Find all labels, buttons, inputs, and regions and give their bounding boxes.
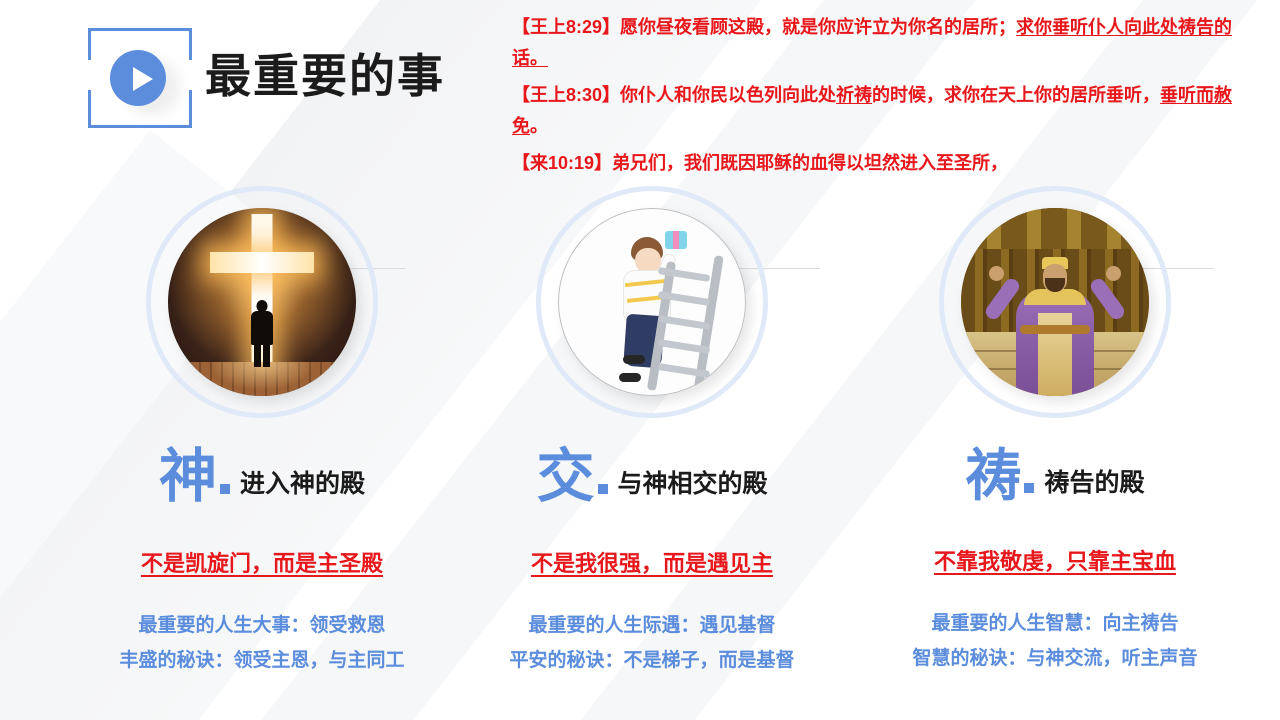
play-button-frame-icon bbox=[88, 28, 192, 128]
person-silhouette bbox=[251, 300, 273, 366]
square-dot-icon bbox=[220, 484, 230, 494]
blue-note-line: 最重要的人生大事：领受救恩 bbox=[62, 608, 462, 643]
verse-1kings-8-29: 【王上8:29】愿你昼夜看顾这殿，就是你应许立为你名的居所；求你垂听仆人向此处祷… bbox=[512, 12, 1268, 74]
content-column-1: 神 进入神的殿 不是凯旋门，而是主圣殿 最重要的人生大事：领受救恩 丰盛的秘诀：… bbox=[62, 186, 462, 678]
frame-edge-bottom bbox=[88, 125, 192, 128]
play-icon bbox=[110, 50, 166, 106]
column-blue-notes: 最重要的人生际遇：遇见基督 平安的秘诀：不是梯子，而是基督 bbox=[452, 608, 852, 678]
column-title-row: 神 进入神的殿 bbox=[62, 448, 462, 506]
page-title: 最重要的事 bbox=[205, 40, 445, 106]
column-subtitle: 祷告的殿 bbox=[1044, 463, 1144, 499]
column-big-character: 祷 bbox=[965, 448, 1021, 504]
frame-edge-right-top bbox=[189, 28, 192, 60]
column-big-character: 神 bbox=[159, 448, 217, 506]
blue-note-line: 平安的秘诀：不是梯子，而是基督 bbox=[452, 643, 852, 678]
slide-canvas: 最重要的事 【王上8:29】愿你昼夜看顾这殿，就是你应许立为你名的居所；求你垂听… bbox=[0, 0, 1280, 720]
play-triangle bbox=[133, 67, 153, 91]
frame-edge-right-bottom bbox=[189, 90, 192, 128]
frame-edge-left-top bbox=[88, 28, 91, 60]
slide-header: 最重要的事 【王上8:29】愿你昼夜看顾这殿，就是你应许立为你名的居所；求你垂听… bbox=[0, 0, 1280, 180]
verse-1kings-8-30: 【王上8:30】你仆人和你民以色列向此处祈祷的时候，求你在天上你的居所垂听，垂听… bbox=[512, 80, 1268, 142]
verse-text-plain-middle: 的时候，求你在天上你的居所垂听， bbox=[872, 85, 1160, 105]
person-climbing-ladder-illustration bbox=[558, 208, 746, 396]
column-red-statement: 不是我很强，而是遇见主 bbox=[452, 546, 852, 578]
blue-note-line: 最重要的人生智慧：向主祷告 bbox=[855, 606, 1255, 641]
column-blue-notes: 最重要的人生智慧：向主祷告 智慧的秘诀：与神交流，听主声音 bbox=[855, 606, 1255, 676]
blue-note-line: 丰盛的秘诀：领受主恩，与主同工 bbox=[62, 643, 462, 678]
verse-hebrews-10-19: 【来10:19】弟兄们，我们既因耶稣的血得以坦然进入至圣所， bbox=[512, 148, 1268, 179]
column-title-row: 祷 祷告的殿 bbox=[855, 448, 1255, 504]
verse-text-plain: 【王上8:29】愿你昼夜看顾这殿，就是你应许立为你名的居所； bbox=[512, 17, 1016, 37]
column-red-statement: 不是凯旋门，而是主圣殿 bbox=[62, 546, 462, 578]
column-big-character: 交 bbox=[536, 448, 594, 506]
column-title-row: 交 与神相交的殿 bbox=[452, 448, 852, 506]
column-red-statement: 不靠我敬虔，只靠主宝血 bbox=[855, 544, 1255, 576]
circle-image-frame bbox=[536, 186, 768, 418]
king-solomon-praying-painting bbox=[961, 208, 1149, 396]
scripture-block: 【王上8:29】愿你昼夜看顾这殿，就是你应许立为你名的居所；求你垂听仆人向此处祷… bbox=[512, 12, 1268, 185]
square-dot-icon bbox=[1024, 483, 1034, 493]
column-blue-notes: 最重要的人生大事：领受救恩 丰盛的秘诀：领受主恩，与主同工 bbox=[62, 608, 462, 678]
verse-text-plain: 【王上8:30】你仆人和你民以色列向此处 bbox=[512, 85, 836, 105]
column-subtitle: 与神相交的殿 bbox=[618, 464, 768, 500]
ladder bbox=[655, 245, 717, 391]
column-subtitle: 进入神的殿 bbox=[240, 464, 365, 500]
content-column-3: 祷 祷告的殿 不靠我敬虔，只靠主宝血 最重要的人生智慧：向主祷告 智慧的秘诀：与… bbox=[855, 186, 1255, 676]
blue-note-line: 智慧的秘诀：与神交流，听主声音 bbox=[855, 641, 1255, 676]
verse-text-underlined: 祈祷 bbox=[836, 85, 872, 105]
content-column-2: 交 与神相交的殿 不是我很强，而是遇见主 最重要的人生际遇：遇见基督 平安的秘诀… bbox=[452, 186, 852, 678]
verse-text-plain: 【来10:19】弟兄们，我们既因耶稣的血得以坦然进入至圣所， bbox=[512, 153, 1008, 173]
frame-edge-left-bottom bbox=[88, 90, 91, 128]
glowing-cross-photo bbox=[168, 208, 356, 396]
blue-note-line: 最重要的人生际遇：遇见基督 bbox=[452, 608, 852, 643]
circle-image-frame bbox=[939, 186, 1171, 418]
verse-text-plain-after: 。 bbox=[530, 116, 548, 136]
frame-edge-top bbox=[88, 28, 192, 31]
square-dot-icon bbox=[598, 484, 608, 494]
circle-image-frame bbox=[146, 186, 378, 418]
